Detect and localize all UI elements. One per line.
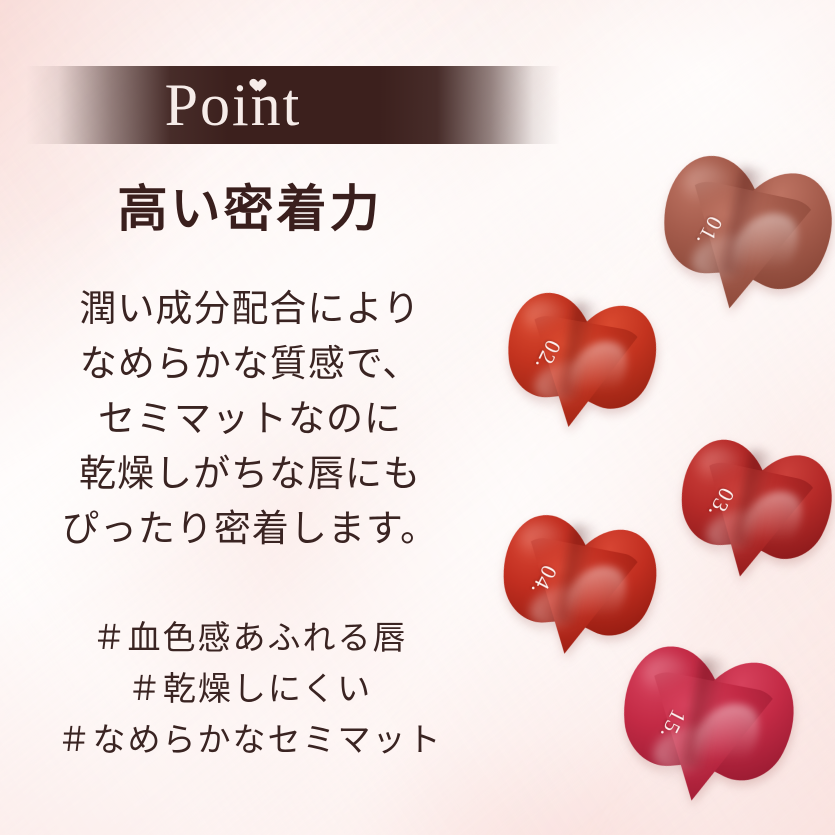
banner-title-text: Point (165, 72, 302, 138)
heart-shape: 02. (495, 283, 666, 440)
body-copy-line: ぴったり密着します。 (0, 501, 500, 556)
body-copy-line: 潤い成分配合により (0, 281, 500, 336)
poster-canvas: Point 高い密着力 潤い成分配合により なめらかな質感で、 セミマットなのに… (0, 0, 835, 835)
banner-title: Point (26, 66, 560, 144)
body-copy-line: なめらかな質感で、 (0, 336, 500, 391)
hashtag-list: ＃血色感あふれる唇 ＃乾燥しにくい ＃なめらかなセミマット (0, 612, 500, 765)
body-copy-line: セミマットなのに (0, 391, 500, 446)
point-banner: Point (26, 66, 560, 144)
hashtag-item: ＃血色感あふれる唇 (0, 612, 500, 663)
page-title: 高い密着力 (0, 182, 500, 237)
banner-title-text-wrap: Point (165, 75, 302, 135)
body-copy: 潤い成分配合により なめらかな質感で、 セミマットなのに 乾燥しがちな唇にも ぴ… (0, 281, 500, 556)
heart-shape: 15. (607, 635, 805, 817)
hashtag-item: ＃なめらかなセミマット (0, 714, 500, 765)
lipstick-swatch-02: 02. (495, 283, 666, 440)
body-copy-line: 乾燥しがちな唇にも (0, 446, 500, 501)
hashtag-item: ＃乾燥しにくい (0, 663, 500, 714)
lipstick-swatch-15: 15. (607, 635, 805, 817)
heart-icon (247, 74, 262, 88)
